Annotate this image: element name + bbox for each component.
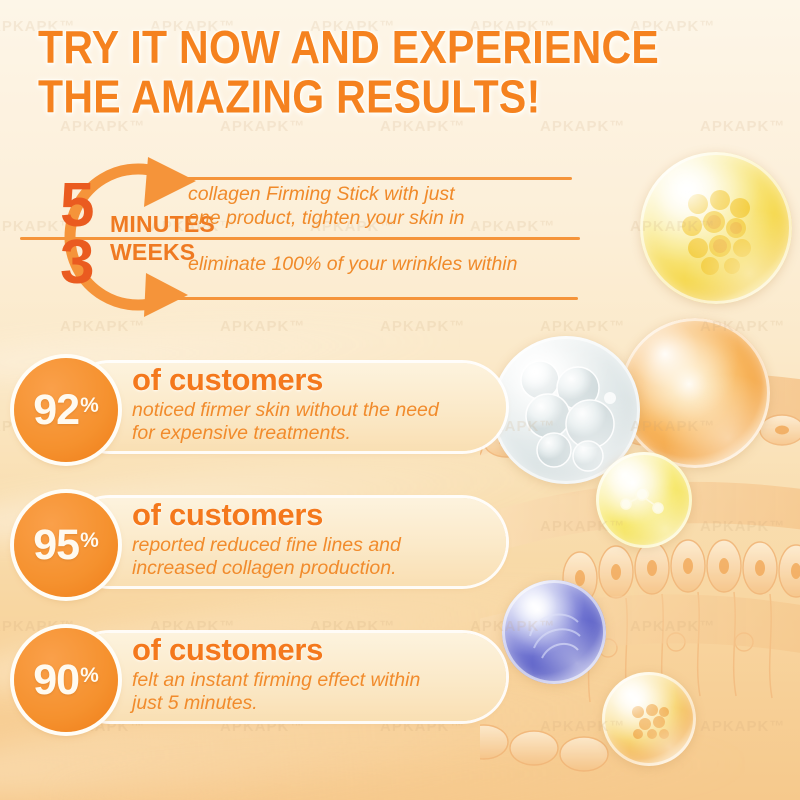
claim-text-top-line2: one product, tighten your skin in <box>188 206 464 230</box>
status-badge: 95 % <box>14 493 118 597</box>
stat-percent-value: 95 <box>33 524 79 567</box>
promo-poster: APKAPK™ APKAPK™ APKAPK™ APKAPK™ APKAPK™ … <box>0 0 800 800</box>
stat-subtext-line1: reported reduced fine lines and <box>132 534 532 557</box>
stat-text: of customers reported reduced fine lines… <box>132 499 532 580</box>
orange-glow-sphere <box>620 318 770 468</box>
orange-honeycomb-sphere <box>602 672 696 766</box>
stat-subtext: noticed firmer skin without the need for… <box>132 399 532 446</box>
stat-card: 92 % of customers noticed firmer skin wi… <box>14 358 506 455</box>
stat-subtext-line1: noticed firmer skin without the need <box>132 399 532 422</box>
stat-text: of customers felt an instant firming eff… <box>132 634 532 715</box>
status-badge: 92 % <box>14 358 118 462</box>
percent-symbol: % <box>80 530 99 551</box>
stat-percent-value: 92 <box>33 389 79 432</box>
stat-heading: of customers <box>132 499 532 531</box>
divider-middle <box>20 237 580 240</box>
yellow-serum-sphere <box>596 452 692 548</box>
percent-symbol: % <box>80 665 99 686</box>
percent-symbol: % <box>80 395 99 416</box>
stat-text: of customers noticed firmer skin without… <box>132 364 532 445</box>
stat-card: 95 % of customers reported reduced fine … <box>14 493 506 590</box>
claim-text-bottom: eliminate 100% of your wrinkles within <box>188 252 517 276</box>
divider-bottom <box>158 297 578 300</box>
stat-card: 90 % of customers felt an instant firmin… <box>14 628 506 725</box>
time-claim-block: 5 MINUTES 3 WEEKS collagen Firming Stick… <box>20 155 620 320</box>
headline-line-2: THE AMAZING RESULTS! <box>38 73 738 122</box>
claim-text-top-line1: collagen Firming Stick with just <box>188 182 464 206</box>
divider-top <box>172 177 572 180</box>
page-title: TRY IT NOW AND EXPERIENCE THE AMAZING RE… <box>38 24 738 122</box>
weeks-unit: WEEKS <box>110 239 195 266</box>
weeks-number: 3 <box>60 232 92 294</box>
stat-subtext-line1: felt an instant firming effect within <box>132 669 532 692</box>
stat-subtext: felt an instant firming effect within ju… <box>132 669 532 716</box>
stat-subtext-line2: just 5 minutes. <box>132 692 532 715</box>
yellow-honeycomb-sphere-top <box>640 152 792 304</box>
stat-subtext: reported reduced fine lines and increase… <box>132 534 532 581</box>
stat-heading: of customers <box>132 634 532 666</box>
headline-line-1: TRY IT NOW AND EXPERIENCE <box>38 24 738 73</box>
stat-subtext-line2: increased collagen production. <box>132 557 532 580</box>
claim-text-top: collagen Firming Stick with just one pro… <box>188 182 464 230</box>
stat-heading: of customers <box>132 364 532 396</box>
stat-subtext-line2: for expensive treatments. <box>132 422 532 445</box>
status-badge: 90 % <box>14 628 118 732</box>
stat-percent-value: 90 <box>33 659 79 702</box>
